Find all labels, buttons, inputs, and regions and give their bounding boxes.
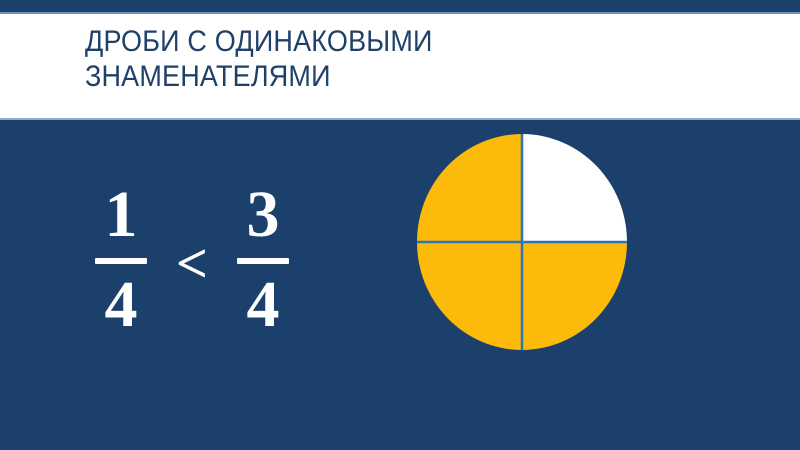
fraction-numerator: 1 <box>105 182 138 254</box>
top-accent-bar <box>0 0 800 12</box>
pie-slice-top-right <box>522 134 627 242</box>
fraction-three-quarters: 3 4 <box>227 182 299 338</box>
pie-slice-bottom-right <box>522 242 627 350</box>
fraction-bar <box>95 258 147 264</box>
fraction-bar <box>237 258 289 264</box>
fraction-denominator: 4 <box>105 270 138 338</box>
fraction-one-quarter: 1 4 <box>85 182 157 338</box>
slide: ДРОБИ С ОДИНАКОВЫМИ ЗНАМЕНАТЕЛЯМИ 1 4 < … <box>0 0 800 450</box>
pie-chart-three-quarters <box>417 134 627 350</box>
fraction-numerator: 3 <box>247 182 280 254</box>
fraction-denominator: 4 <box>247 270 280 338</box>
pie-slice-top-left <box>417 134 522 242</box>
fraction-comparison-expression: 1 4 < 3 4 <box>85 160 355 360</box>
less-than-sign: < <box>157 236 227 292</box>
slide-body: 1 4 < 3 4 <box>0 120 800 450</box>
pie-chart-svg <box>417 134 627 350</box>
pie-slice-bottom-left <box>417 242 522 350</box>
page-title: ДРОБИ С ОДИНАКОВЫМИ ЗНАМЕНАТЕЛЯМИ <box>85 24 661 94</box>
